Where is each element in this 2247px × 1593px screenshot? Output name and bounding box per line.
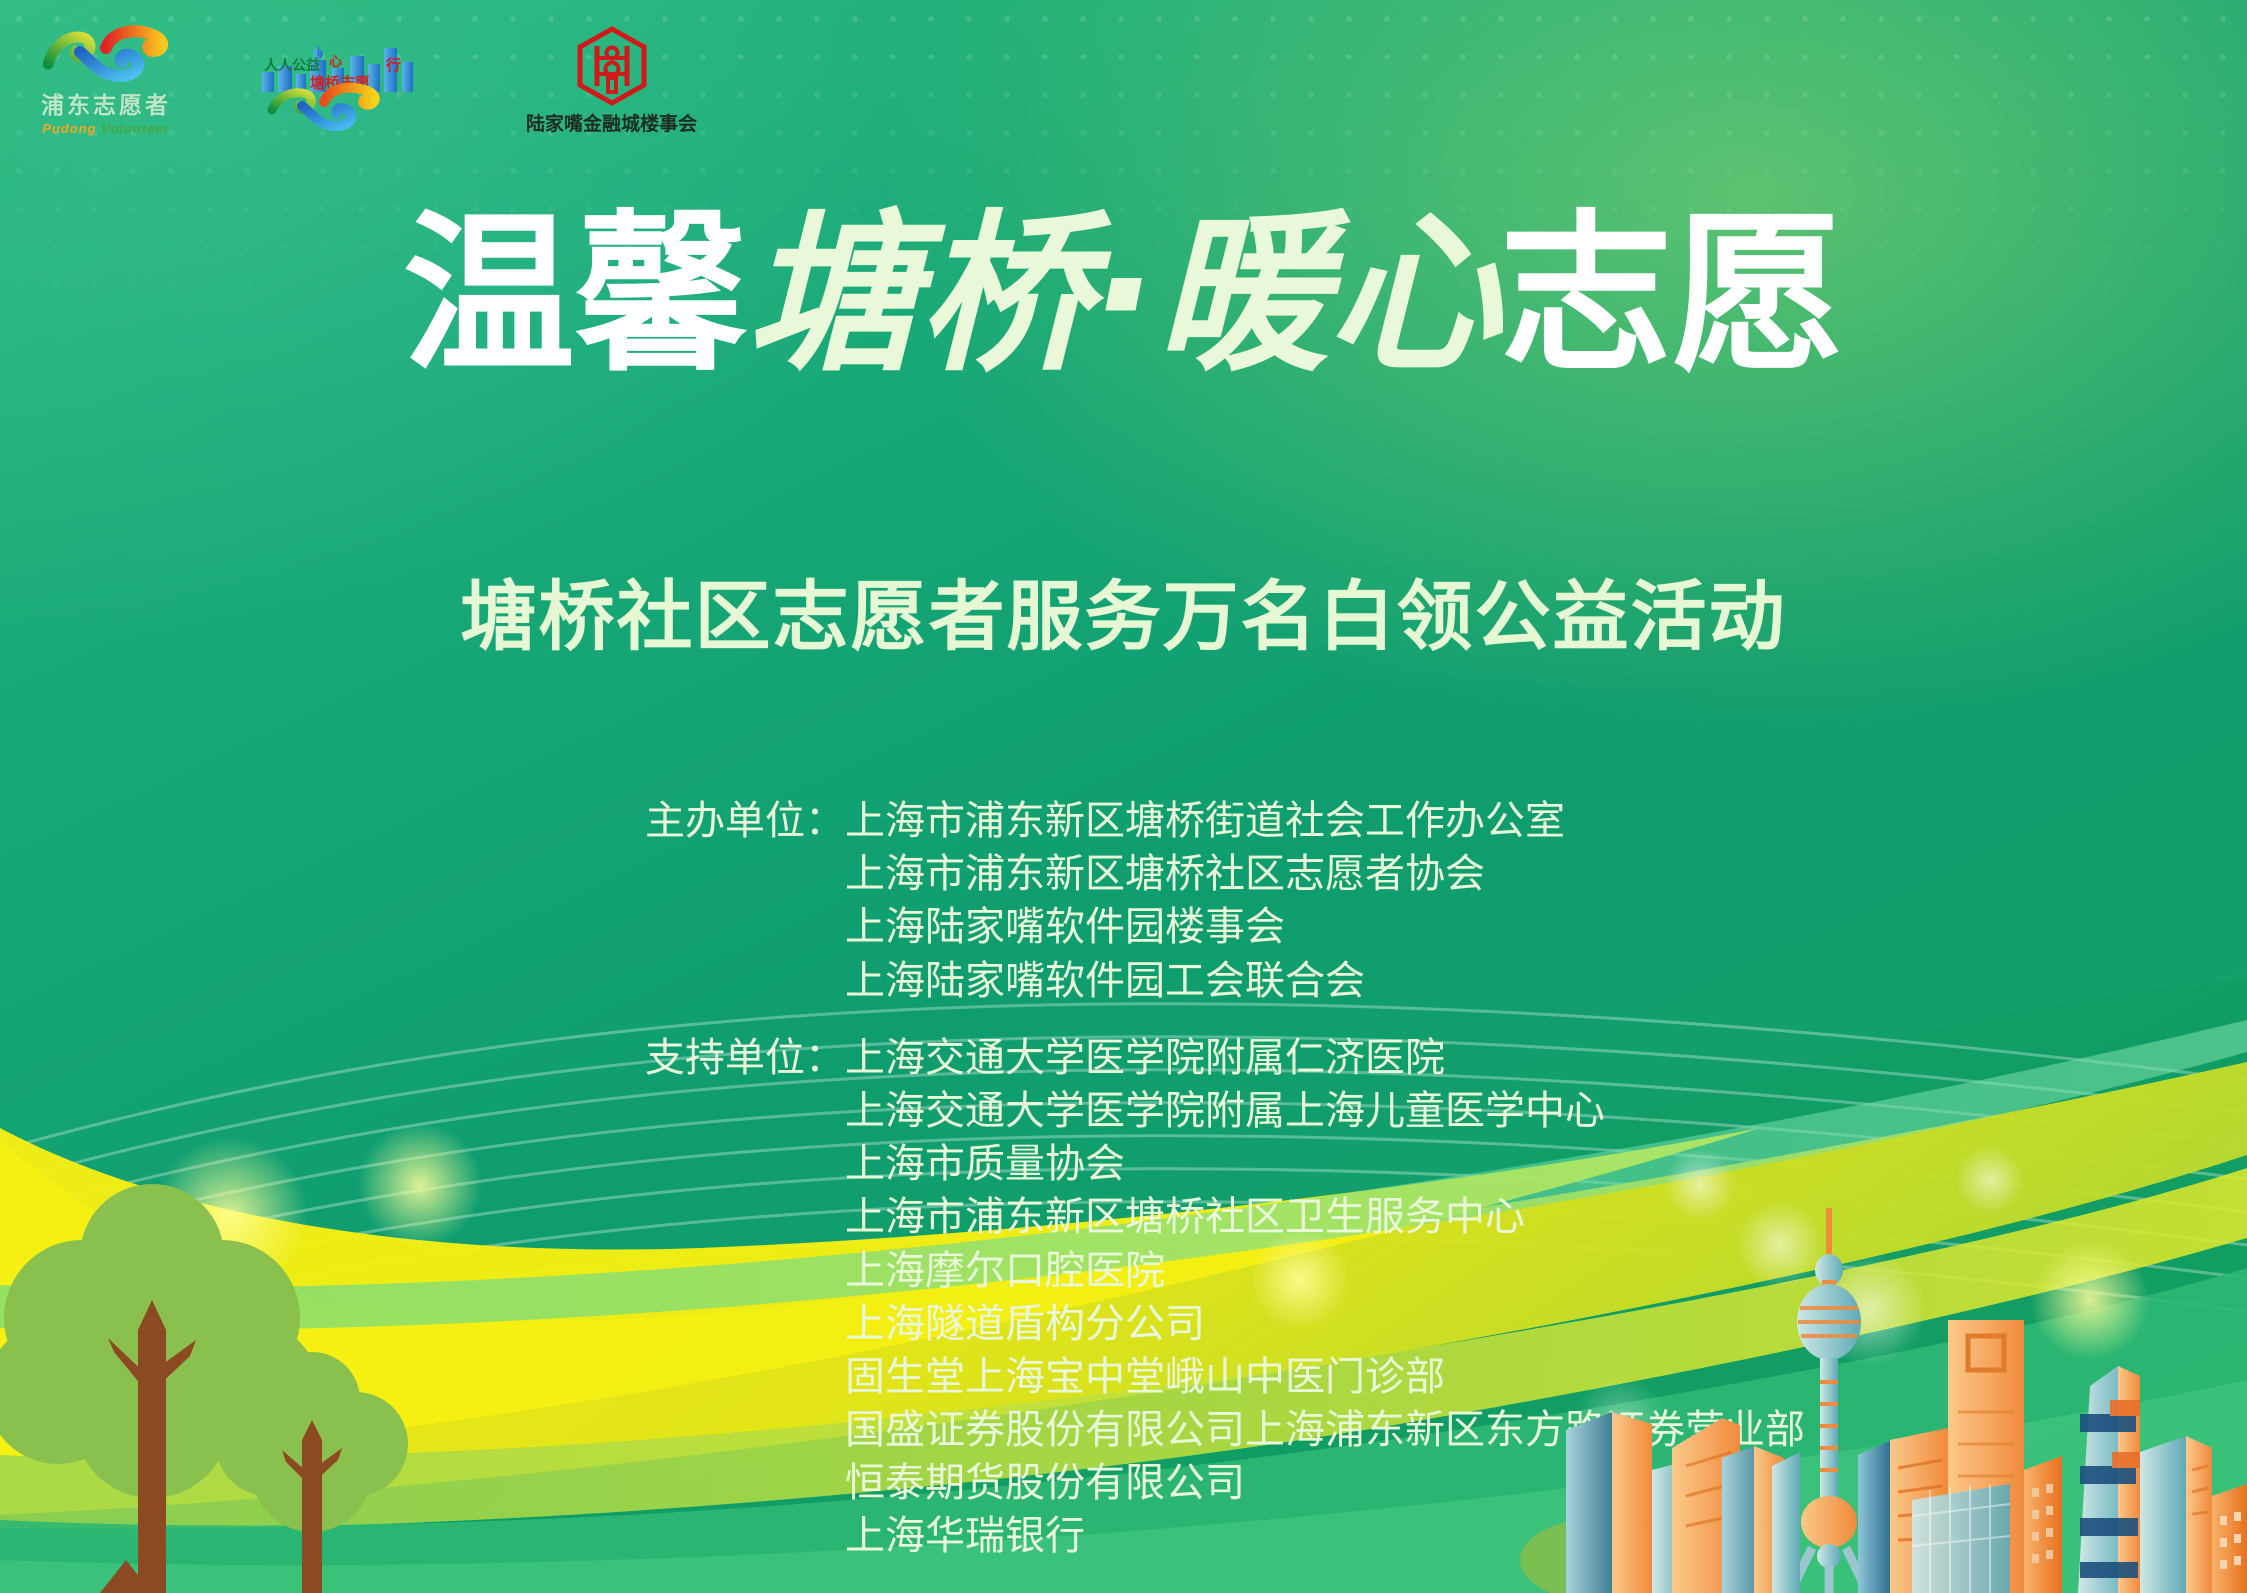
host-units-label: 主办单位： <box>645 795 845 848</box>
hexagon-icon <box>575 26 649 106</box>
logo-bar: 浦东志愿者 Pudong Volunteer <box>40 22 697 136</box>
tangqiao-skyline-icon: 人人公益 心 塘桥志愿 行 <box>254 44 444 136</box>
support-units-label: 支持单位： <box>645 1032 845 1085</box>
list-item: 上海交通大学医学院附属上海儿童医学中心 <box>845 1085 1805 1138</box>
pudong-volunteer-cn: 浦东志愿者 <box>40 86 172 120</box>
pudong-volunteer-en: Pudong Volunteer <box>40 121 172 136</box>
ribbon-swirl-icon <box>40 22 172 84</box>
svg-text:行: 行 <box>385 56 401 74</box>
list-item: 上海华瑞银行 <box>845 1510 1805 1563</box>
list-item: 上海市浦东新区塘桥社区卫生服务中心 <box>845 1191 1805 1244</box>
list-item: 上海陆家嘴软件园工会联合会 <box>845 955 1565 1008</box>
list-item: 上海市浦东新区塘桥街道社会工作办公室 <box>845 795 1565 848</box>
host-units-group: 主办单位： 上海市浦东新区塘桥街道社会工作办公室 上海市浦东新区塘桥社区志愿者协… <box>645 795 1805 1008</box>
svg-text:心: 心 <box>329 55 342 70</box>
page-subtitle: 塘桥社区志愿者服务万名白领公益活动 <box>0 555 2247 665</box>
support-units-list: 上海交通大学医学院附属仁济医院 上海交通大学医学院附属上海儿童医学中心 上海市质… <box>845 1032 1805 1564</box>
list-item: 恒泰期货股份有限公司 <box>845 1457 1805 1510</box>
shanghai-tower <box>2078 1366 2140 1593</box>
list-item: 上海摩尔口腔医院 <box>845 1245 1805 1298</box>
trees-illustration <box>0 1184 408 1593</box>
lujiazui-logo: 陆家嘴金融城楼事会 <box>526 26 697 136</box>
organizer-info: 主办单位： 上海市浦东新区塘桥街道社会工作办公室 上海市浦东新区塘桥社区志愿者协… <box>645 795 1805 1564</box>
list-item: 上海市质量协会 <box>845 1138 1805 1191</box>
title-part-3: 志愿 <box>1500 194 1844 395</box>
poster-canvas: 浦东志愿者 Pudong Volunteer <box>0 0 2247 1593</box>
host-units-list: 上海市浦东新区塘桥街道社会工作办公室 上海市浦东新区塘桥社区志愿者协会 上海陆家… <box>845 795 1565 1008</box>
tangqiao-volunteer-logo: 人人公益 心 塘桥志愿 行 <box>254 44 444 136</box>
title-part-2: 塘桥·暖心 <box>747 194 1500 395</box>
pudong-volunteer-label: 浦东志愿者 Pudong Volunteer <box>40 86 172 136</box>
list-item: 固生堂上海宝中堂峨山中医门诊部 <box>845 1351 1805 1404</box>
list-item: 上海隧道盾构分公司 <box>845 1298 1805 1351</box>
list-item: 上海交通大学医学院附属仁济医院 <box>845 1032 1805 1085</box>
list-item: 国盛证券股份有限公司上海浦东新区东方路证券营业部 <box>845 1404 1805 1457</box>
list-item: 上海市浦东新区塘桥社区志愿者协会 <box>845 848 1565 901</box>
support-units-group: 支持单位： 上海交通大学医学院附属仁济医院 上海交通大学医学院附属上海儿童医学中… <box>645 1032 1805 1564</box>
pudong-volunteer-logo: 浦东志愿者 Pudong Volunteer <box>40 22 172 136</box>
list-item: 上海陆家嘴软件园楼事会 <box>845 901 1565 954</box>
title-part-1: 温馨 <box>403 194 747 395</box>
page-title: 温馨塘桥·暖心志愿 <box>0 205 2247 386</box>
lujiazui-label: 陆家嘴金融城楼事会 <box>526 109 697 136</box>
svg-text:人人公益: 人人公益 <box>264 57 320 74</box>
